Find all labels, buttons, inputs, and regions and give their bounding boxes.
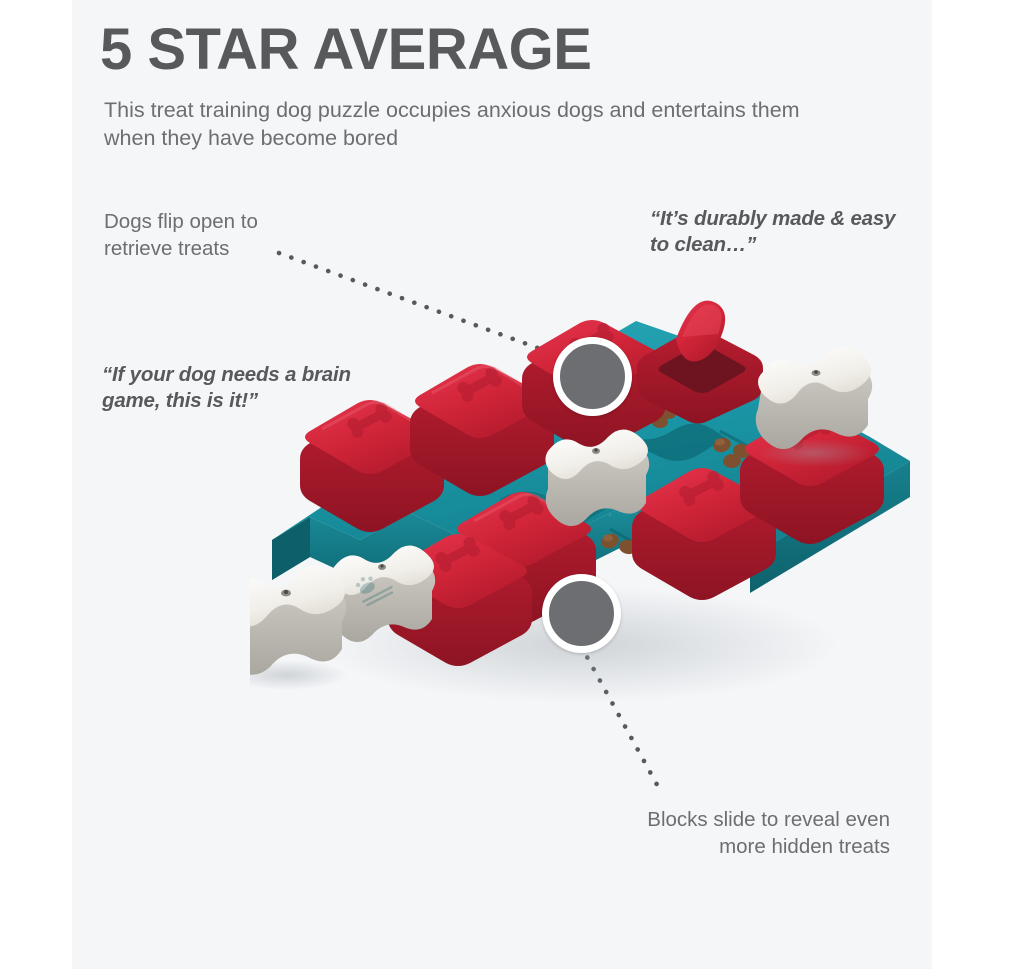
quote-durable: “It’s durably made & easy to clean…” bbox=[650, 206, 910, 258]
page-subtitle: This treat training dog puzzle occupies … bbox=[104, 96, 834, 152]
sliding-block-hotspot[interactable] bbox=[542, 574, 621, 653]
flip-lid-hotspot[interactable] bbox=[553, 337, 632, 416]
page-title: 5 STAR AVERAGE bbox=[100, 19, 591, 81]
callout-blocks-slide: Blocks slide to reveal even more hidden … bbox=[640, 806, 890, 860]
infographic-page: 5 STAR AVERAGE This treat training dog p… bbox=[0, 0, 1024, 969]
callout-flip-open: Dogs flip open to retrieve treats bbox=[104, 208, 324, 262]
